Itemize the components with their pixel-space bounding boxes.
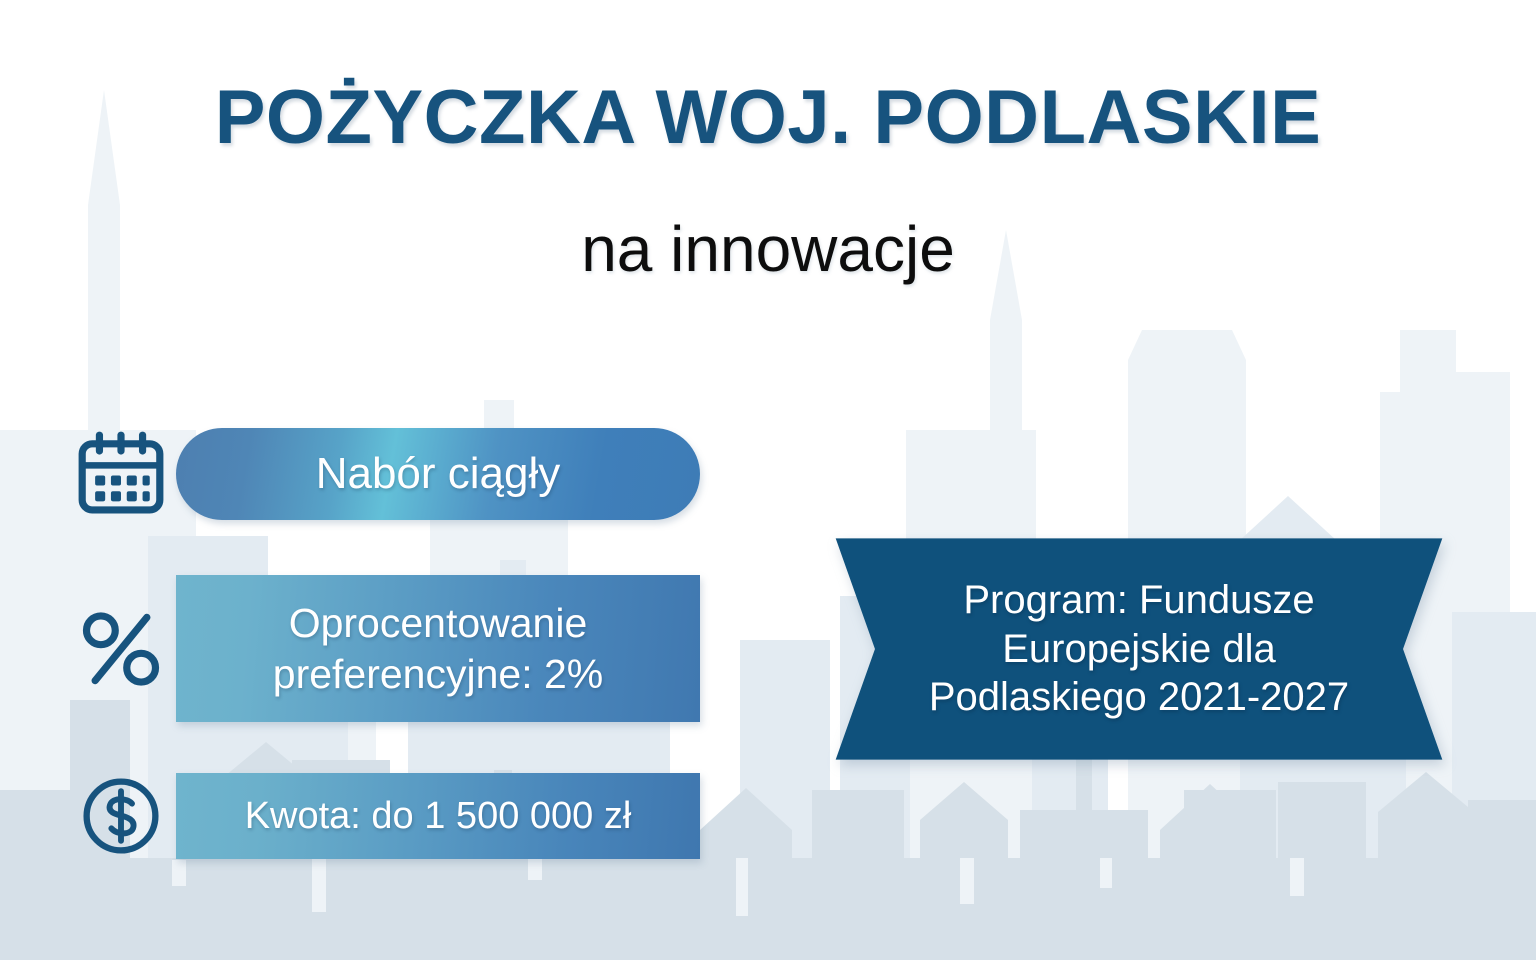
- badge-oprocentowanie[interactable]: Oprocentowanie preferencyjne: 2%: [176, 575, 700, 722]
- skyline-window-slivers: [172, 858, 1304, 916]
- feature-row-kwota: Kwota: do 1 500 000 zł: [66, 772, 700, 860]
- page-subtitle: na innowacje: [0, 212, 1536, 286]
- infographic-canvas: POŻYCZKA WOJ. PODLASKIE na innowacje: [0, 0, 1536, 960]
- feature-row-oprocentowanie: Oprocentowanie preferencyjne: 2%: [66, 575, 700, 722]
- percent-icon: [66, 603, 176, 695]
- badge-nabor-ciagly[interactable]: Nabór ciągły: [176, 428, 700, 520]
- page-title: POŻYCZKA WOJ. PODLASKIE: [0, 74, 1536, 161]
- program-ribbon-banner: Program: Fundusze Europejskie dla Podlas…: [832, 535, 1446, 763]
- dollar-coin-icon: [66, 772, 176, 860]
- badge-kwota[interactable]: Kwota: do 1 500 000 zł: [176, 773, 700, 859]
- calendar-icon: [66, 428, 176, 520]
- feature-row-nabor: Nabór ciągły: [66, 428, 700, 520]
- ribbon-label: Program: Fundusze Europejskie dla Podlas…: [832, 535, 1446, 763]
